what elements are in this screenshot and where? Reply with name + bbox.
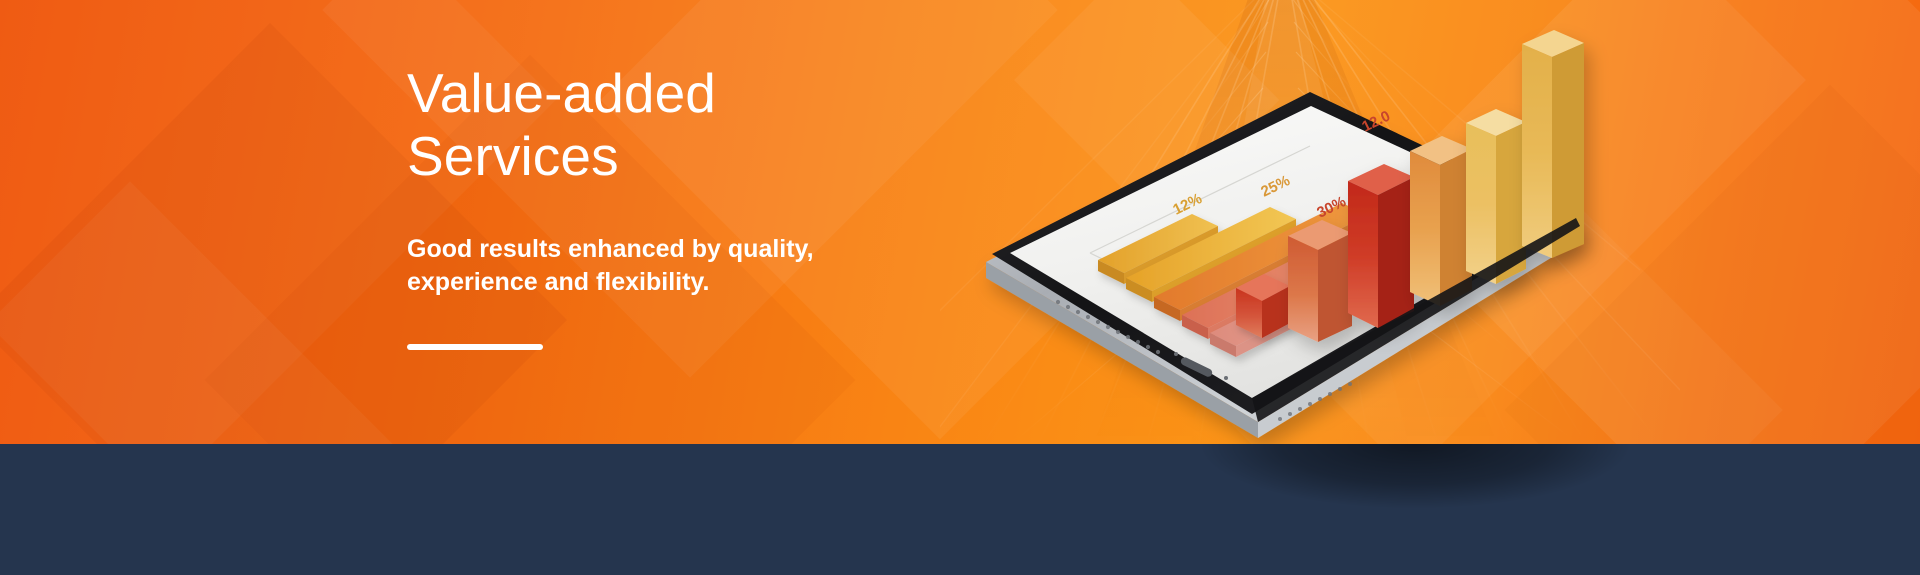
tablet-illustration: 12% 25% 30% 12.0 bbox=[980, 10, 1780, 444]
hero-banner: Value-added Services Good results enhanc… bbox=[0, 0, 1920, 575]
footer-bar bbox=[0, 444, 1920, 575]
title-divider bbox=[407, 344, 543, 350]
page-title: Value-added Services bbox=[407, 62, 967, 187]
hero-background: Value-added Services Good results enhanc… bbox=[0, 0, 1920, 444]
vertical-bar bbox=[1410, 136, 1472, 306]
hero-copy: Value-added Services Good results enhanc… bbox=[407, 62, 967, 350]
vertical-bar bbox=[1288, 220, 1352, 342]
vertical-bar bbox=[1348, 164, 1414, 328]
page-subtitle: Good results enhanced by quality, experi… bbox=[407, 233, 967, 299]
tablet-3d-chart-graphic: 12% 25% 30% 12.0 bbox=[980, 10, 1780, 444]
